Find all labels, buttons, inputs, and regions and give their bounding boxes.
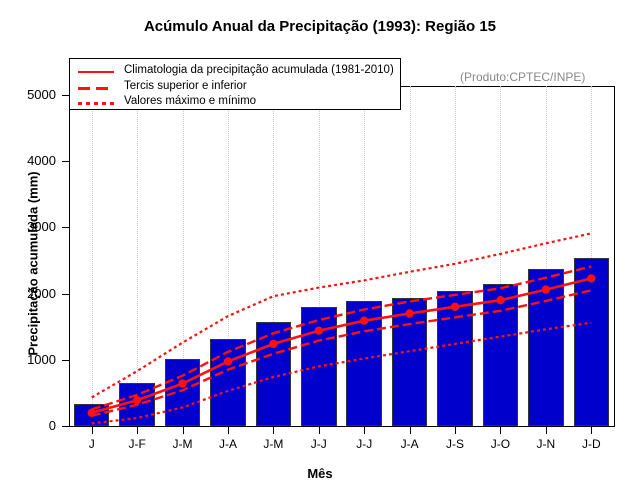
y-tick-mark <box>62 426 69 427</box>
bar <box>210 339 245 426</box>
x-tick-mark <box>228 427 229 434</box>
gridline <box>92 86 93 426</box>
x-axis-title: Mês <box>0 466 640 481</box>
bar <box>392 298 427 426</box>
y-tick-label: 5000 <box>0 87 56 102</box>
plot-border-right <box>614 86 615 427</box>
bar <box>256 322 291 426</box>
x-axis-line <box>69 426 615 427</box>
legend-label: Valores máximo e mínimo <box>124 95 256 107</box>
y-axis-title: Precipitação acumulada (mm) <box>26 134 41 394</box>
x-tick-mark <box>319 427 320 434</box>
x-tick-mark <box>500 427 501 434</box>
x-tick-mark <box>92 427 93 434</box>
x-tick-mark <box>183 427 184 434</box>
bar <box>301 307 336 426</box>
x-tick-mark <box>410 427 411 434</box>
y-tick-label: 0 <box>0 418 56 433</box>
legend-label: Climatologia da precipitação acumulada (… <box>124 64 394 76</box>
bar <box>165 359 200 426</box>
bar <box>574 258 609 426</box>
gridline <box>137 86 138 426</box>
chart-container: Acúmulo Anual da Precipitação (1993): Re… <box>0 0 640 500</box>
x-tick-label: J-A <box>401 437 419 451</box>
x-tick-label: J <box>89 437 95 451</box>
x-tick-mark <box>591 427 592 434</box>
x-tick-label: J-N <box>537 437 556 451</box>
bar <box>437 291 472 426</box>
y-tick-mark <box>62 360 69 361</box>
y-tick-mark <box>62 161 69 162</box>
x-tick-label: J-J <box>311 437 327 451</box>
bar <box>483 284 518 426</box>
legend-label: Tercis superior e inferior <box>124 80 247 92</box>
y-tick-mark <box>62 227 69 228</box>
chart-title: Acúmulo Anual da Precipitação (1993): Re… <box>0 18 640 35</box>
x-tick-label: J-D <box>582 437 601 451</box>
legend: Climatologia da precipitação acumulada (… <box>69 58 401 110</box>
x-tick-label: J-M <box>173 437 193 451</box>
y-tick-mark <box>62 95 69 96</box>
legend-line-dotted-icon <box>78 102 114 105</box>
x-tick-mark <box>364 427 365 434</box>
x-tick-label: J-A <box>219 437 237 451</box>
bar <box>346 301 381 426</box>
x-tick-mark <box>273 427 274 434</box>
y-axis-line <box>69 86 70 427</box>
bar <box>119 383 154 426</box>
bar <box>528 269 563 426</box>
x-tick-label: J-F <box>128 437 145 451</box>
source-annotation: (Produto:CPTEC/INPE) <box>460 70 585 84</box>
legend-line-dashed-icon <box>78 87 114 90</box>
x-tick-mark <box>546 427 547 434</box>
bar <box>74 404 109 426</box>
x-tick-label: J-M <box>263 437 283 451</box>
x-tick-label: J-S <box>446 437 464 451</box>
x-tick-label: J-O <box>491 437 510 451</box>
x-tick-mark <box>137 427 138 434</box>
y-tick-mark <box>62 294 69 295</box>
legend-line-solid-icon <box>78 71 114 73</box>
x-tick-label: J-J <box>356 437 372 451</box>
x-tick-mark <box>455 427 456 434</box>
